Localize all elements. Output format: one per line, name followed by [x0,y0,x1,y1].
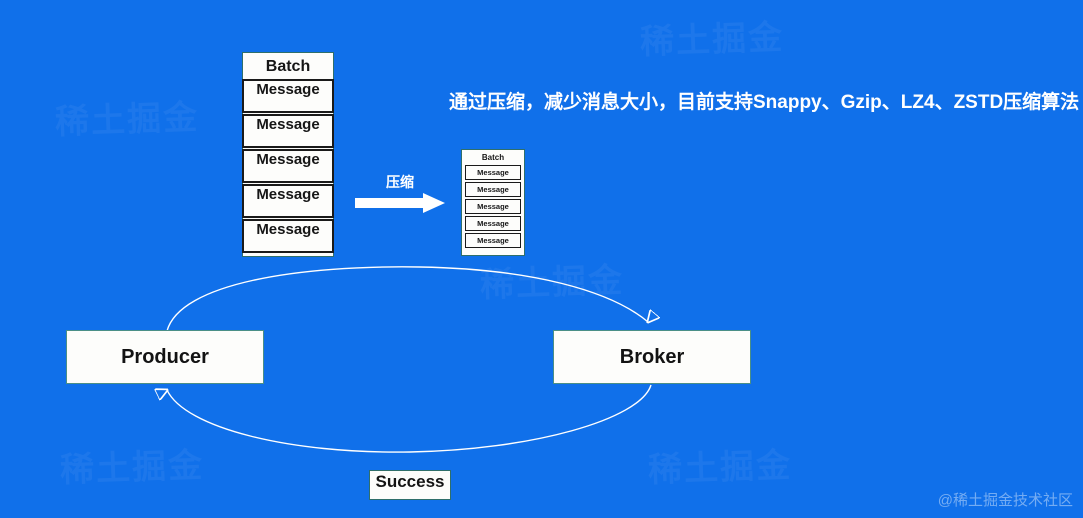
batch-title: Batch [465,152,521,164]
batch-title: Batch [243,57,333,77]
background-watermark: 稀土掘金 [639,10,785,64]
compressed-batch-box: Batch Message Message Message Message Me… [461,149,525,256]
compression-label: 压缩 [355,172,445,192]
success-response-box: Success [369,470,451,500]
message-item: Message [465,165,521,180]
background-watermark: 稀土掘金 [647,438,793,492]
producer-node: Producer [66,330,264,384]
corner-watermark: @稀土掘金技术社区 [938,489,1073,510]
arc-broker-to-producer [167,385,651,452]
compression-caption: 通过压缩，减少消息大小，目前支持Snappy、Gzip、LZ4、ZSTD压缩算法 [449,87,1083,114]
background-watermark: 稀土掘金 [59,438,205,492]
background-watermark: 稀土掘金 [479,253,625,307]
uncompressed-batch-box: Batch Message Message Message Message Me… [242,52,334,257]
message-item: Message [242,184,334,218]
message-item: Message [465,182,521,197]
broker-label: Broker [620,346,684,369]
arrow-right-icon [355,193,445,213]
producer-label: Producer [121,346,209,369]
message-item: Message [465,216,521,231]
background-watermark: 稀土掘金 [54,90,200,144]
message-item: Message [242,219,334,253]
message-item: Message [242,79,334,113]
message-item: Message [465,199,521,214]
message-item: Message [465,233,521,248]
compression-arrow-group: 压缩 [355,172,445,212]
broker-node: Broker [553,330,751,384]
message-item: Message [242,149,334,183]
message-item: Message [242,114,334,148]
